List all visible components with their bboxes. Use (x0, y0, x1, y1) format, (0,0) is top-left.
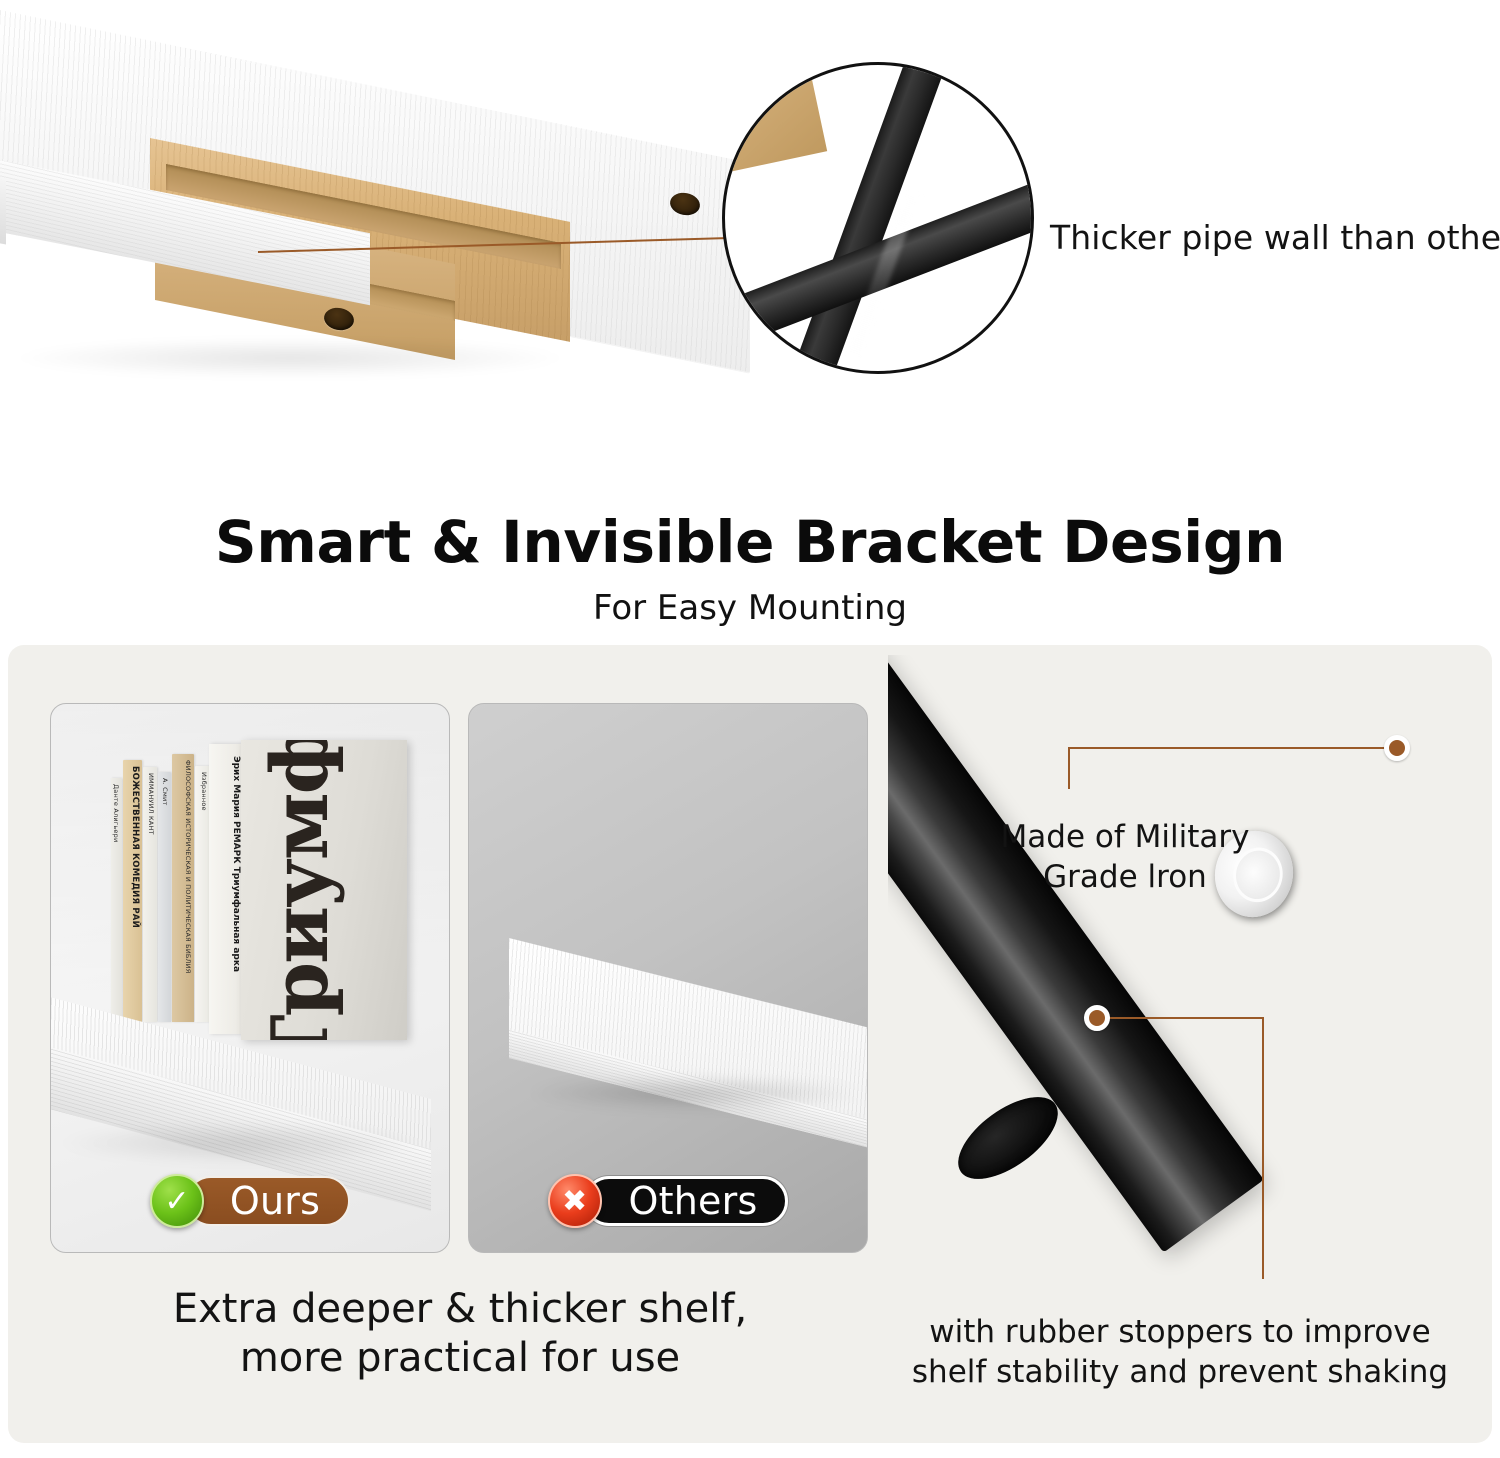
rod-callout-bottom-line1: with rubber stoppers to improve (900, 1312, 1460, 1352)
comparison-caption-line1: Extra deeper & thicker shelf, (50, 1285, 870, 1334)
book-front-cover: Триумф (241, 740, 407, 1040)
book-cover-title: Триумф (265, 740, 337, 1040)
comparison-caption-line2: more practical for use (50, 1334, 870, 1383)
black-iron-rod (888, 655, 1264, 1253)
callout-dot-stopper (1084, 1005, 1110, 1031)
hero-caption: Thicker pipe wall than others (1050, 218, 1500, 257)
callout-leader-horizontal (1068, 747, 1390, 749)
book-spine: ИММАНУИЛ КАНТ (143, 767, 157, 1022)
rod-callout-top-line2: Grade lron (950, 858, 1300, 898)
book-spine: Избранное (195, 766, 210, 1022)
others-shelf-shadow (529, 1076, 859, 1110)
magnifier-shelf-corner (722, 62, 827, 176)
page-subtitle: For Easy Mounting (0, 588, 1500, 628)
others-badge: ✖ Others (469, 1174, 867, 1228)
page-title: Smart & Invisible Bracket Design (0, 508, 1500, 576)
x-circle-icon: ✖ (548, 1174, 602, 1228)
rod-callout-bottom-line2: shelf stability and prevent shaking (900, 1352, 1460, 1392)
shelf-side-face (0, 175, 6, 244)
others-photo-card: ✖ Others (468, 703, 868, 1253)
book-stack: Данте Алигьери БОЖЕСТВЕННАЯ КОМЕДИЯ РАЙ … (109, 740, 399, 1022)
rod-callout-top: Made of Military Grade lron (950, 818, 1300, 897)
ours-badge: ✓ Ours (51, 1174, 449, 1228)
check-circle-icon: ✓ (150, 1174, 204, 1228)
ours-shelf-shadow (61, 1122, 421, 1164)
ours-photo-card: Данте Алигьери БОЖЕСТВЕННАЯ КОМЕДИЯ РАЙ … (50, 703, 450, 1253)
magnified-bracket-detail (722, 62, 1034, 374)
callout-leader-vertical (1068, 747, 1070, 789)
ours-badge-label: Ours (186, 1176, 350, 1226)
callout-leader-vertical (1262, 1017, 1264, 1279)
book-spine: ФИЛОСОФСКАЯ ИСТОРИЧЕСКАЯ И ПОЛИТИЧЕСКАЯ … (172, 754, 194, 1022)
book-spine: Данте Алигьери (111, 778, 122, 1022)
others-badge-label: Others (584, 1176, 789, 1226)
product-feature-page: Thicker pipe wall than others Smart & In… (0, 0, 1500, 1458)
shelf-drop-shadow (10, 338, 570, 378)
rod-callout-top-line1: Made of Military (950, 818, 1300, 858)
callout-dot-material (1384, 735, 1410, 761)
book-spine: А. Смит (158, 772, 171, 1022)
book-spine: БОЖЕСТВЕННАЯ КОМЕДИЯ РАЙ (123, 760, 142, 1022)
book-spine-front: Эрих Мария РЕМАРК Триумфальная арка (209, 744, 241, 1034)
hero-section: Thicker pipe wall than others (0, 0, 1500, 470)
comparison-caption: Extra deeper & thicker shelf, more pract… (50, 1285, 870, 1383)
rod-callout-bottom: with rubber stoppers to improve shelf st… (900, 1312, 1460, 1393)
white-floating-shelf-underside (0, 8, 820, 438)
callout-leader-horizontal (1104, 1017, 1264, 1019)
